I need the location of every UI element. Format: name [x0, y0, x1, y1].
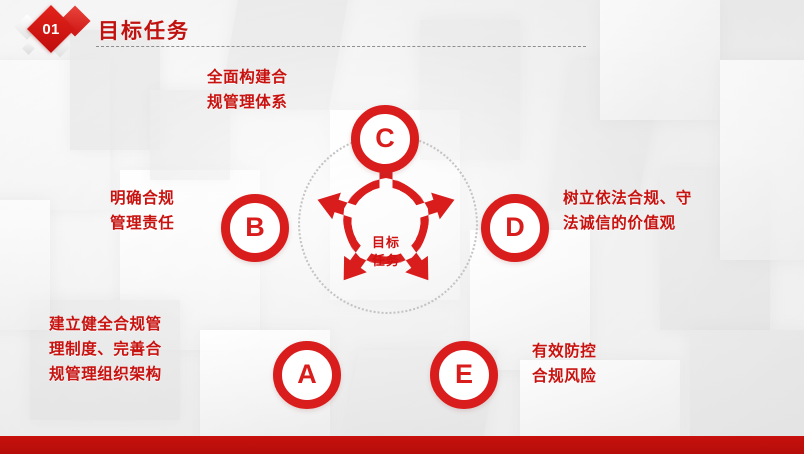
header-divider [96, 46, 586, 47]
caption-e-line2: 合规风险 [532, 364, 596, 389]
caption-c-line2: 规管理体系 [207, 90, 288, 115]
wheel-center-label: 目标 任务 [343, 234, 429, 270]
node-letter-a: A [297, 361, 317, 388]
page-title: 目标任务 [98, 15, 190, 45]
bottom-accent-bar [0, 436, 804, 454]
node-circle-e[interactable]: E [430, 341, 498, 409]
slide-header: 01 目标任务 [0, 0, 804, 62]
center-label-line2: 任务 [343, 252, 429, 270]
caption-a-line3: 规管理组织架构 [49, 362, 162, 387]
badge-number: 01 [34, 12, 68, 46]
node-letter-c: C [375, 125, 395, 152]
node-circle-c[interactable]: C [351, 105, 419, 173]
caption-a-line2: 理制度、完善合 [49, 337, 162, 362]
caption-a-line1: 建立健全合规管 [49, 312, 162, 337]
node-caption-b: 明确合规 管理责任 [110, 186, 174, 236]
caption-b-line2: 管理责任 [110, 211, 174, 236]
node-circle-d[interactable]: D [481, 194, 549, 262]
node-circle-a[interactable]: A [273, 341, 341, 409]
caption-d-line2: 法诚信的价值观 [563, 211, 692, 236]
node-caption-c: 全面构建合 规管理体系 [207, 65, 288, 115]
node-caption-a: 建立健全合规管 理制度、完善合 规管理组织架构 [49, 312, 162, 387]
caption-b-line1: 明确合规 [110, 186, 174, 211]
center-label-line1: 目标 [343, 234, 429, 252]
node-circle-b[interactable]: B [221, 194, 289, 262]
target-tasks-diagram: 目标 任务 C 全面构建合 规管理体系 B 明确合规 管理责任 D 树立依法合规… [0, 58, 804, 436]
section-number-badge: 01 [14, 4, 98, 60]
diamond-decoration-small-icon [22, 42, 35, 55]
node-letter-d: D [505, 214, 525, 241]
caption-c-line1: 全面构建合 [207, 65, 288, 90]
node-letter-b: B [245, 214, 265, 241]
node-caption-d: 树立依法合规、守 法诚信的价值观 [563, 186, 692, 236]
slide: 01 目标任务 [0, 0, 804, 454]
node-letter-e: E [455, 361, 473, 388]
caption-d-line1: 树立依法合规、守 [563, 186, 692, 211]
node-caption-e: 有效防控 合规风险 [532, 339, 596, 389]
caption-e-line1: 有效防控 [532, 339, 596, 364]
